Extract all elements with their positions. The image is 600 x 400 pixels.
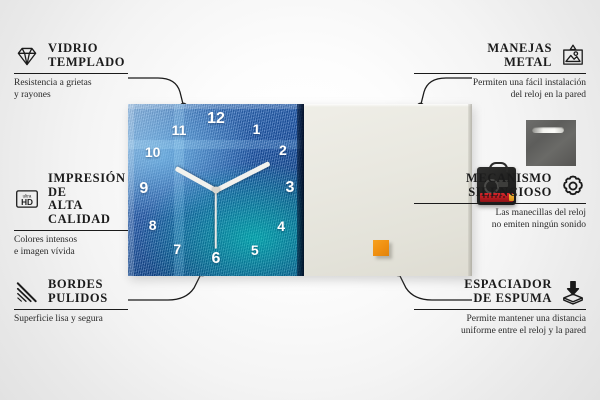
clock-numeral-12: 12	[207, 112, 225, 126]
foam-spacer	[373, 240, 389, 256]
clock-minute-hand	[215, 161, 271, 193]
callout-title: MANEJAS METAL	[487, 42, 552, 69]
callout-rule	[14, 230, 128, 231]
clock-numeral-10: 10	[145, 145, 161, 159]
callout-rule	[414, 309, 586, 310]
callout-bordes-pulidos: BORDES PULIDOS Superficie lisa y segura	[14, 278, 128, 326]
clock-hour-hand	[175, 166, 218, 193]
hanging-picture-frame-icon	[560, 43, 586, 69]
callout-rule	[414, 203, 586, 204]
callout-manejas-metal: MANEJAS METAL Permiten una fácil instala…	[414, 42, 586, 101]
callout-subtitle: Permiten una fácil instalación del reloj…	[414, 78, 586, 101]
clock-numeral-7: 7	[173, 242, 181, 256]
glass-edge	[297, 104, 304, 276]
hanger-keyhole-slot	[532, 127, 564, 133]
callout-subtitle: Permite mantener una distancia uniforme …	[414, 314, 586, 337]
callout-title: IMPRESIÓN DE ALTA CALIDAD	[48, 172, 128, 226]
metal-hanger-plate	[526, 120, 576, 166]
clock-numeral-2: 2	[279, 143, 287, 157]
callout-subtitle: Las manecillas del reloj no emiten ningú…	[414, 208, 586, 231]
callout-subtitle: Colores intensos e imagen vívida	[14, 235, 128, 258]
svg-text:HD: HD	[21, 198, 33, 207]
clock-numeral-9: 9	[139, 182, 148, 196]
arrow-down-onto-pad-icon	[560, 279, 586, 305]
clock-numeral-4: 4	[277, 219, 285, 233]
callout-impresion-alta-calidad: ultra HD IMPRESIÓN DE ALTA CALIDAD Color…	[14, 172, 128, 258]
clock-numeral-6: 6	[212, 252, 221, 266]
callout-title: VIDRIO TEMPLADO	[48, 42, 125, 69]
gear-icon	[560, 173, 586, 199]
clock-numeral-1: 1	[253, 122, 261, 136]
callout-vidrio-templado: VIDRIO TEMPLADO Resistencia a grietas y …	[14, 42, 128, 101]
clock-numeral-5: 5	[251, 243, 259, 257]
back-panel-top-highlight	[304, 104, 472, 107]
clock-numeral-11: 11	[172, 123, 187, 137]
callout-espaciador-de-espuma: ESPACIADOR DE ESPUMA Permite mantener un…	[414, 278, 586, 337]
callout-rule	[14, 309, 128, 310]
callout-subtitle: Resistencia a grietas y rayones	[14, 78, 128, 101]
ultra-hd-icon: ultra HD	[14, 186, 40, 212]
callout-rule	[414, 73, 586, 74]
callout-title: BORDES PULIDOS	[48, 278, 108, 305]
callout-rule	[14, 73, 128, 74]
infographic-canvas: 12 1 2 3 4 5 6 7 8 9 10 11	[0, 0, 600, 400]
callout-title: ESPACIADOR DE ESPUMA	[464, 278, 552, 305]
callout-title: MECANISMO SILENCIOSO	[466, 172, 552, 199]
callout-mecanismo-silencioso: MECANISMO SILENCIOSO Las manecillas del …	[414, 172, 586, 231]
callout-subtitle: Superficie lisa y segura	[14, 314, 128, 326]
clock-second-hand	[215, 191, 217, 249]
clock-hand-cap	[213, 187, 220, 194]
clock-numeral-8: 8	[149, 218, 157, 232]
diamond-icon	[14, 43, 40, 69]
clock-front-face: 12 1 2 3 4 5 6 7 8 9 10 11	[128, 104, 304, 276]
clock-numeral-3: 3	[285, 181, 294, 195]
polished-edge-lines-icon	[14, 279, 40, 305]
